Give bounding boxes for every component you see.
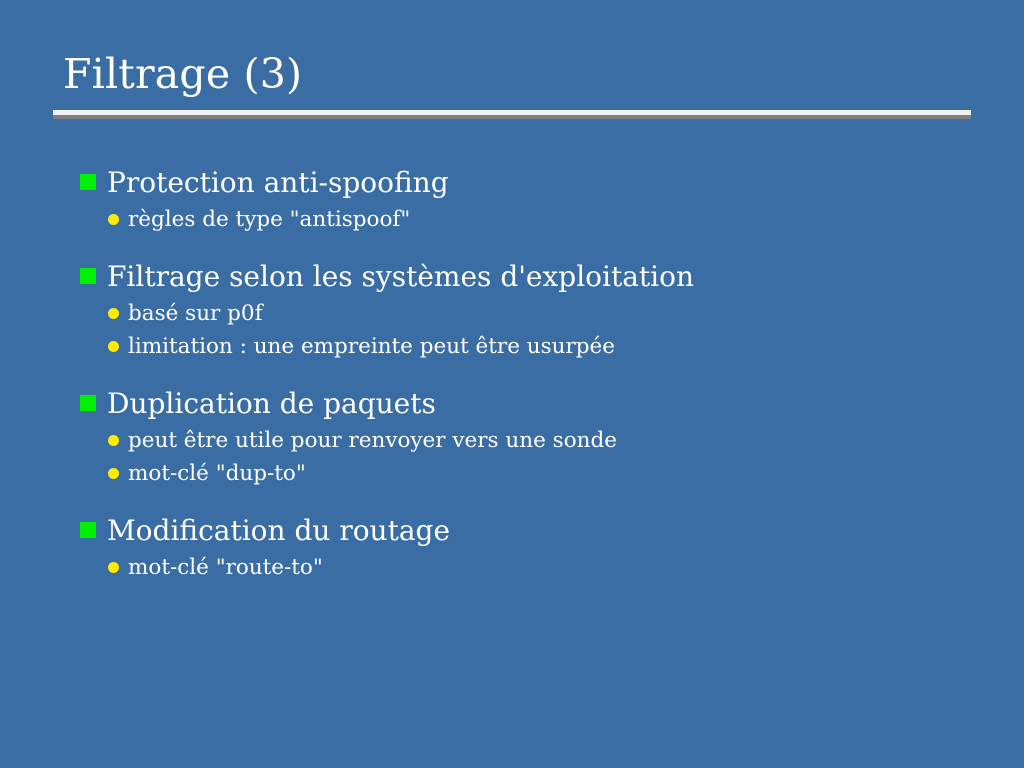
level2-bullet-row: peut être utile pour renvoyer vers une s… — [108, 424, 980, 457]
level2-bullet-label: règles de type "antispoof" — [128, 203, 410, 236]
level1-bullet-row: Modification du routage — [80, 512, 980, 549]
green-square-bullet-icon — [80, 174, 96, 190]
bullet-group: Modification du routage mot-clé "route-t… — [80, 512, 980, 584]
yellow-dot-bullet-icon — [108, 308, 119, 319]
level2-bullet-row: limitation : une empreinte peut être usu… — [108, 330, 980, 363]
level2-list: basé sur p0f limitation : une empreinte … — [80, 297, 980, 363]
level1-bullet-row: Protection anti-spoofing — [80, 164, 980, 201]
level1-bullet-label: Duplication de paquets — [107, 385, 436, 422]
title-underline-rule — [53, 110, 971, 119]
level1-bullet-label: Protection anti-spoofing — [107, 164, 449, 201]
level2-bullet-row: mot-clé "route-to" — [108, 551, 980, 584]
yellow-dot-bullet-icon — [108, 468, 119, 479]
yellow-dot-bullet-icon — [108, 435, 119, 446]
green-square-bullet-icon — [80, 522, 96, 538]
level2-bullet-label: mot-clé "dup-to" — [128, 457, 306, 490]
level2-bullet-label: peut être utile pour renvoyer vers une s… — [128, 424, 617, 457]
yellow-dot-bullet-icon — [108, 341, 119, 352]
slide-body: Protection anti-spoofing règles de type … — [80, 164, 980, 584]
bullet-group: Filtrage selon les systèmes d'exploitati… — [80, 258, 980, 363]
page-title: Filtrage (3) — [53, 48, 971, 100]
level2-bullet-label: limitation : une empreinte peut être usu… — [128, 330, 615, 363]
level1-bullet-row: Filtrage selon les systèmes d'exploitati… — [80, 258, 980, 295]
level2-bullet-row: basé sur p0f — [108, 297, 980, 330]
level2-bullet-row: règles de type "antispoof" — [108, 203, 980, 236]
level2-list: règles de type "antispoof" — [80, 203, 980, 236]
level2-list: mot-clé "route-to" — [80, 551, 980, 584]
slide-title-block: Filtrage (3) — [53, 48, 971, 100]
level1-bullet-label: Modification du routage — [107, 512, 450, 549]
title-rule-shadow — [53, 115, 971, 119]
green-square-bullet-icon — [80, 395, 96, 411]
bullet-group: Protection anti-spoofing règles de type … — [80, 164, 980, 236]
green-square-bullet-icon — [80, 268, 96, 284]
bullet-group: Duplication de paquets peut être utile p… — [80, 385, 980, 490]
presentation-slide: Filtrage (3) Protection anti-spoofing rè… — [0, 0, 1024, 768]
level2-bullet-label: mot-clé "route-to" — [128, 551, 323, 584]
level1-bullet-label: Filtrage selon les systèmes d'exploitati… — [107, 258, 694, 295]
level2-bullet-label: basé sur p0f — [128, 297, 263, 330]
level2-bullet-row: mot-clé "dup-to" — [108, 457, 980, 490]
yellow-dot-bullet-icon — [108, 562, 119, 573]
level2-list: peut être utile pour renvoyer vers une s… — [80, 424, 980, 490]
level1-bullet-row: Duplication de paquets — [80, 385, 980, 422]
yellow-dot-bullet-icon — [108, 214, 119, 225]
